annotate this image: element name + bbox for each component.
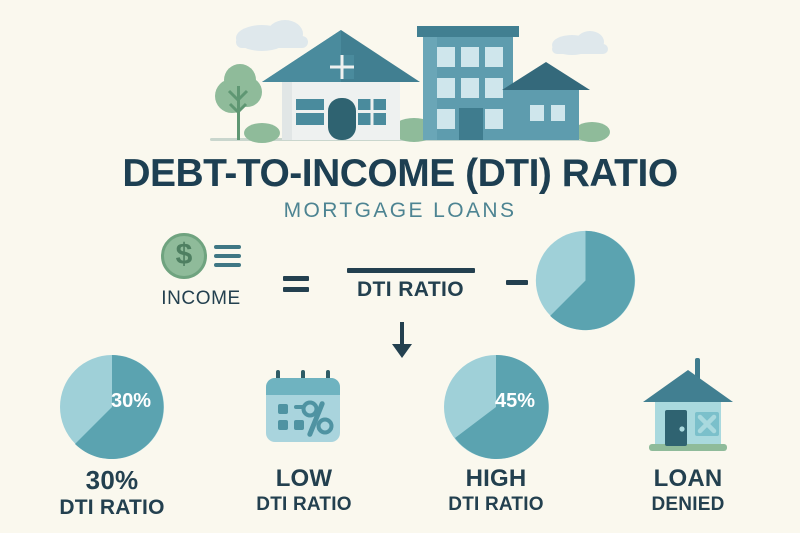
- pie-chart-icon: 45%: [441, 352, 551, 462]
- outcome-caption: LOW DTI RATIO: [256, 466, 351, 515]
- caption-line-1: HIGH: [448, 466, 543, 492]
- pie-chart-icon: 30%: [57, 352, 167, 462]
- outcome-row: 30% 30% DTI RATIO: [0, 348, 800, 523]
- outcome-caption: HIGH DTI RATIO: [448, 466, 543, 515]
- outcome-item-loan-denied: LOAN DENIED: [604, 348, 772, 515]
- caption-line-1: 30%: [59, 466, 164, 494]
- caption-line-2: DTI RATIO: [448, 495, 543, 516]
- outcome-art: [633, 348, 743, 466]
- fraction-denominator-label: DTI RATIO: [333, 278, 488, 302]
- outcome-caption: 30% DTI RATIO: [59, 466, 164, 520]
- outcome-item-30-percent: 30% 30% DTI RATIO: [28, 348, 196, 520]
- outcome-art: [262, 348, 346, 466]
- outcome-art: 30%: [57, 348, 167, 466]
- pie-data-label: 30%: [111, 390, 151, 413]
- caption-line-2: DTI RATIO: [256, 495, 351, 516]
- page-subtitle: MORTGAGE LOANS: [0, 198, 800, 224]
- dollar-coin-icon: $: [161, 233, 207, 279]
- outcome-item-45-percent: 45% HIGH DTI RATIO: [412, 348, 580, 515]
- caption-line-2: DENIED: [652, 495, 725, 516]
- annex-house-illustration: [502, 62, 590, 140]
- cloud-icon: [236, 20, 308, 51]
- infographic-canvas: DEBT-TO-INCOME (DTI) RATIO MORTGAGE LOAN…: [0, 0, 800, 533]
- calendar-percent-icon: [262, 364, 346, 450]
- income-label: INCOME: [136, 288, 266, 310]
- outcome-caption: LOAN DENIED: [652, 466, 725, 515]
- equals-sign: [283, 276, 309, 292]
- caption-line-1: LOAN: [652, 466, 725, 492]
- outcome-art: 45%: [441, 348, 551, 466]
- page-title: DEBT-TO-INCOME (DTI) RATIO: [0, 152, 800, 196]
- house-denied-icon: [633, 356, 743, 458]
- cloud-icon: [552, 31, 608, 55]
- caption-line-2: DTI RATIO: [59, 497, 164, 520]
- outcome-item-low: LOW DTI RATIO: [220, 348, 388, 515]
- city-illustration: [0, 0, 800, 152]
- income-icon-group: $: [136, 230, 266, 282]
- pie-data-label: 45%: [495, 390, 535, 413]
- minus-sign: [506, 280, 528, 285]
- stacked-bars-icon: [214, 245, 241, 267]
- hero-pie-chart: [533, 228, 638, 333]
- fraction-block: DTI RATIO: [333, 268, 488, 302]
- income-block: $ INCOME: [136, 230, 266, 310]
- caption-line-1: LOW: [256, 466, 351, 492]
- apartment-building-illustration: [417, 26, 519, 140]
- fraction-bar: [347, 268, 475, 273]
